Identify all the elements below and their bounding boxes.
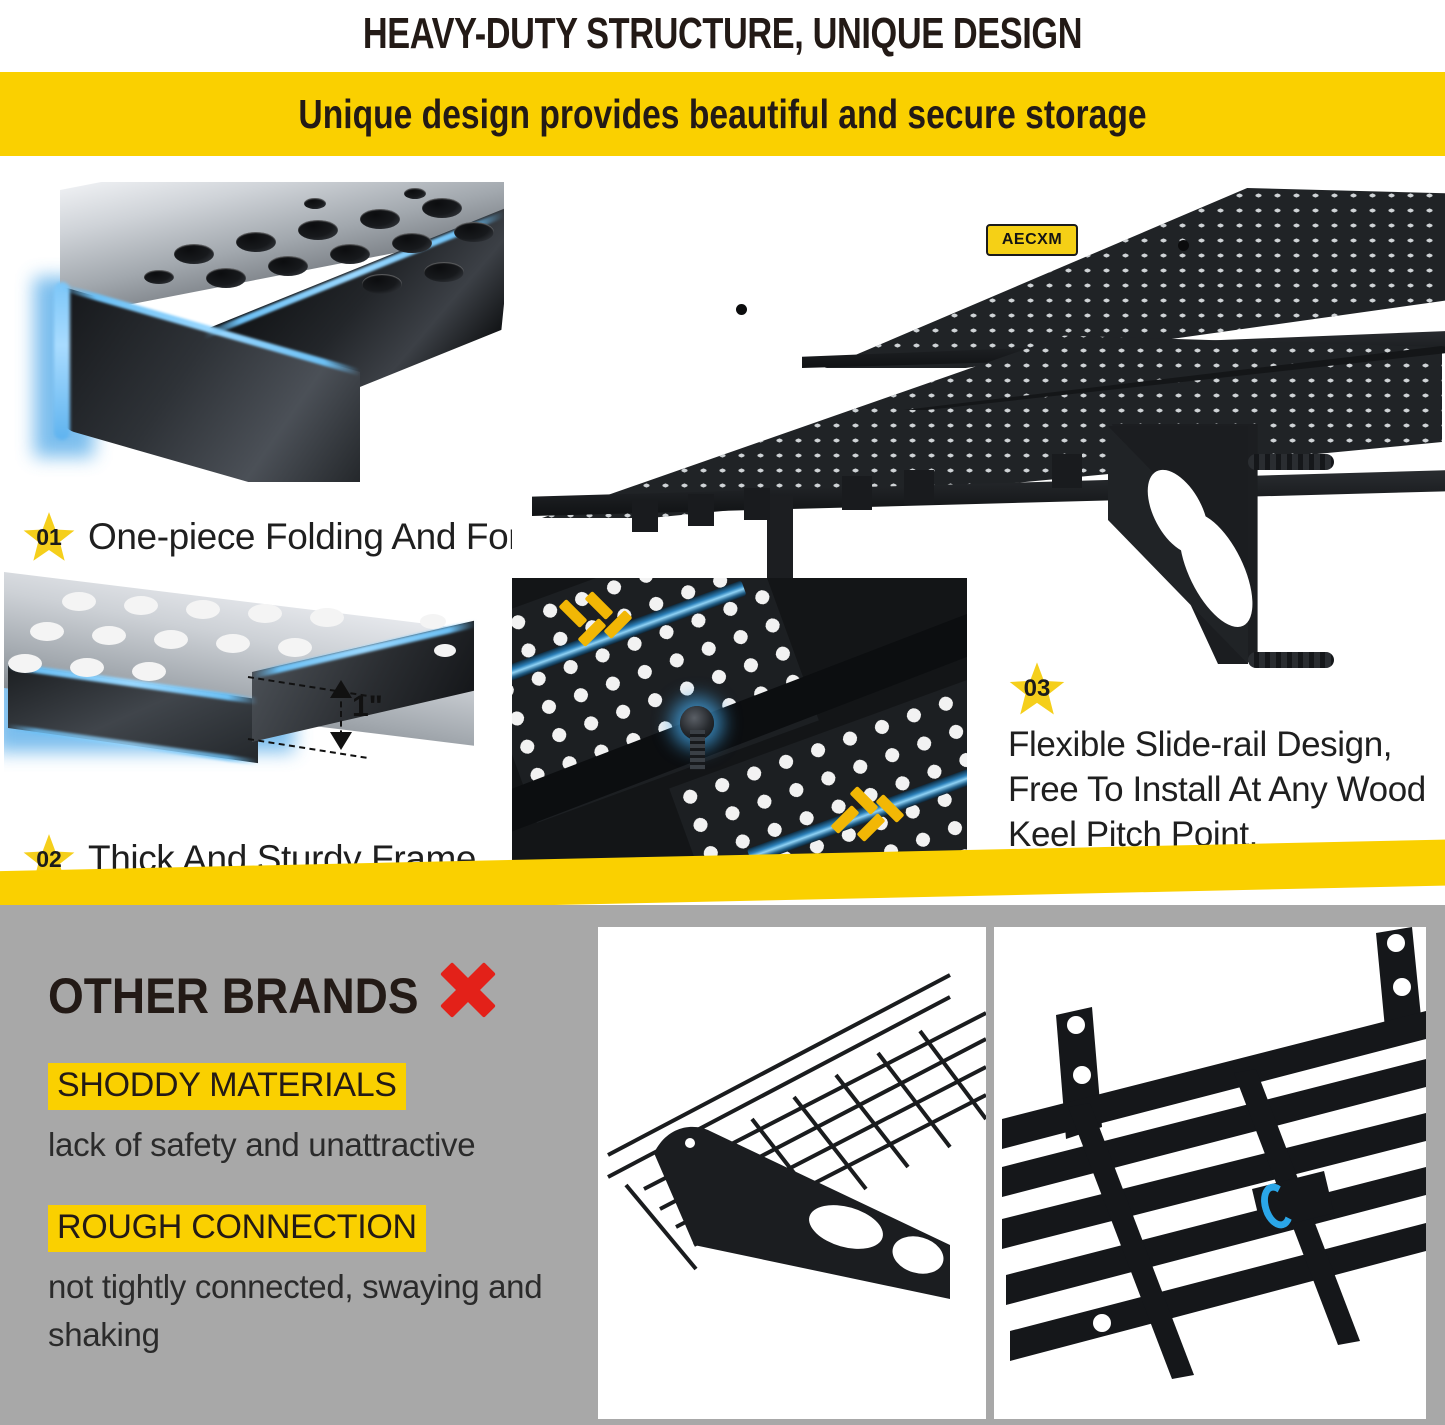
comparison-section: OTHER BRANDS SHODDY MATERIALS lack of sa… — [0, 905, 1445, 1425]
dimension-arrow-down — [330, 732, 352, 750]
page-subtitle: Unique design provides beautiful and sec… — [130, 72, 1315, 156]
slide-rail-bolt-photo — [512, 578, 967, 873]
brand-badge: AECXM — [986, 224, 1078, 256]
hook-tab — [688, 494, 714, 526]
feature-number-03: 03 — [1008, 660, 1066, 718]
flat-bar-frame-drawing — [994, 927, 1426, 1419]
competitor-flat-bar-photo — [994, 927, 1426, 1419]
hook-tab — [632, 500, 658, 532]
feature-number-01: 01 — [22, 510, 76, 564]
cross-mark-icon — [432, 953, 504, 1025]
comparison-title: OTHER BRANDS — [48, 967, 419, 1025]
bolt-shaft — [690, 730, 705, 770]
comparison-heading-1: SHODDY MATERIALS — [48, 1063, 406, 1110]
channel-blue-edge-glow — [54, 282, 70, 440]
feature-callout-03: 03 Flexible Slide-rail Design, Free To I… — [1008, 660, 1438, 857]
page-title: HEAVY-DUTY STRUCTURE, UNIQUE DESIGN — [159, 4, 1286, 64]
competitor-wire-mesh-photo — [598, 927, 986, 1419]
comparison-text-2: not tightly connected, swaying and shaki… — [48, 1263, 578, 1359]
c-channel-profile-photo — [4, 182, 504, 482]
hook-tab — [842, 476, 872, 510]
infographic-page: HEAVY-DUTY STRUCTURE, UNIQUE DESIGN Uniq… — [0, 0, 1445, 1425]
star-badge-01: 01 — [22, 510, 76, 564]
thickness-label: 1" — [352, 690, 383, 724]
feature-label-03: Flexible Slide-rail Design, Free To Inst… — [1008, 722, 1438, 857]
corner-thickness-photo: 1" — [4, 572, 504, 822]
screw-hole — [1178, 240, 1189, 251]
screw-hole — [736, 304, 747, 315]
dimension-arrow-up — [330, 680, 352, 698]
hook-tab — [904, 470, 934, 504]
wall-anchor-top — [1248, 454, 1334, 470]
hook-tab — [1052, 454, 1082, 488]
hook-tab — [744, 488, 770, 520]
comparison-heading-2: ROUGH CONNECTION — [48, 1205, 426, 1252]
features-section: 01 One-piece Folding And Forming — [0, 160, 1445, 880]
star-badge-03: 03 — [1008, 660, 1066, 718]
comparison-text-1: lack of safety and unattractive — [48, 1121, 578, 1169]
brand-name: AECXM — [1002, 231, 1062, 249]
wire-mesh-drawing — [598, 927, 986, 1419]
